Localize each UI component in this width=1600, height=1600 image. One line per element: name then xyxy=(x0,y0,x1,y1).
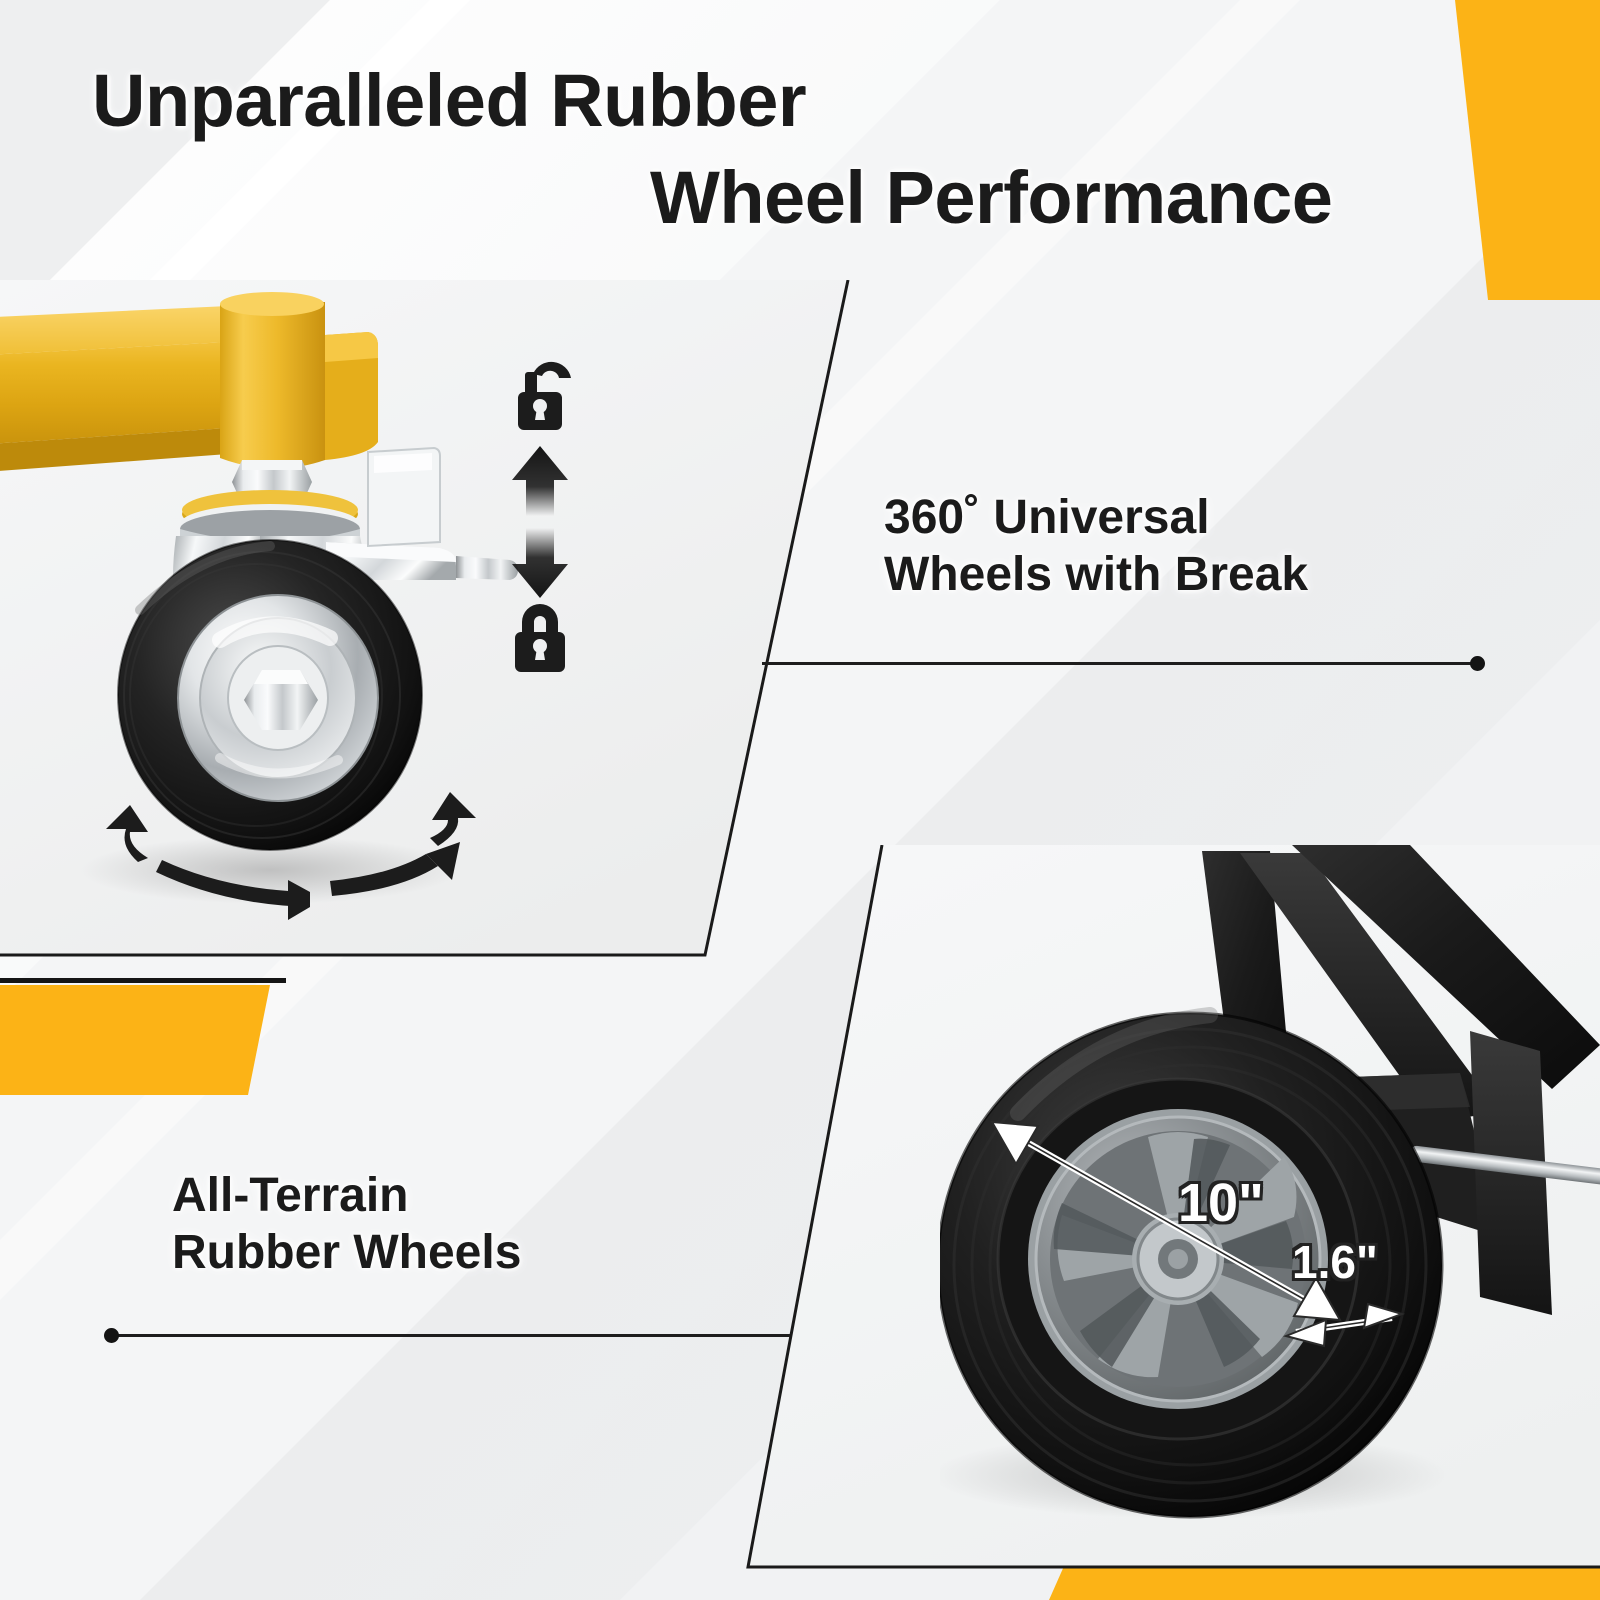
yellow-accent-mid-left xyxy=(0,985,280,1095)
connector-line-feature-2 xyxy=(112,1334,790,1337)
connector-dot-feature-1 xyxy=(1470,656,1485,671)
page-title-line-1: Unparalleled Rubber xyxy=(92,58,806,143)
lock-icon xyxy=(515,604,565,672)
yellow-accent-top-right xyxy=(1400,0,1600,300)
rule-above-mid-left-accent xyxy=(0,978,286,983)
dimension-label-width: 1.6" xyxy=(1292,1235,1378,1289)
dimension-label-diameter: 10" xyxy=(1178,1172,1264,1234)
feature-heading-swivel: 360˚ Universal Wheels with Break xyxy=(884,490,1308,603)
brake-lock-icon-column xyxy=(496,340,606,680)
unlock-icon xyxy=(518,362,571,430)
infographic-root: Unparalleled Rubber Wheel Performance xyxy=(0,0,1600,1600)
arrow-up-icon xyxy=(512,446,568,516)
connector-line-feature-1 xyxy=(762,662,1478,665)
feature-2-line-1: All-Terrain xyxy=(172,1168,521,1225)
feature-heading-all-terrain: All-Terrain Rubber Wheels xyxy=(172,1168,521,1281)
feature-2-line-2: Rubber Wheels xyxy=(172,1225,521,1282)
arrow-down-icon xyxy=(512,528,568,598)
feature-1-line-1: 360˚ Universal xyxy=(884,490,1308,547)
page-title-line-2: Wheel Performance xyxy=(650,155,1332,240)
connector-dot-feature-2 xyxy=(104,1328,119,1343)
feature-1-line-2: Wheels with Break xyxy=(884,547,1308,604)
